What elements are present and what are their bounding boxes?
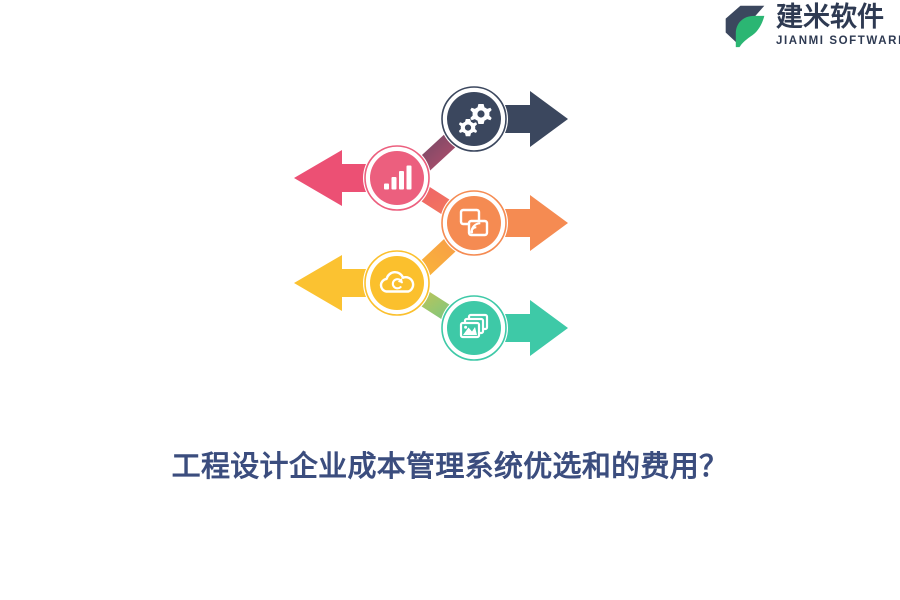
brand-name-cn: 建米软件 (776, 4, 900, 31)
brand-text: 建米软件 JIANMI SOFTWARE (776, 4, 900, 48)
node-gears[interactable] (440, 85, 508, 153)
brand-name-en: JIANMI SOFTWARE (776, 36, 900, 48)
jianmi-logo-mark-icon (722, 3, 768, 49)
node-image-gallery[interactable] (440, 294, 508, 362)
node-cloud-sync[interactable] (363, 249, 431, 317)
page-title: 工程设计企业成本管理系统优选和的费用？ (0, 443, 900, 485)
node-screen-cast[interactable] (440, 189, 508, 257)
node-bar-chart[interactable] (363, 144, 431, 212)
process-flow-infographic (280, 75, 580, 375)
brand-logo: 建米软件 JIANMI SOFTWARE (722, 0, 900, 52)
